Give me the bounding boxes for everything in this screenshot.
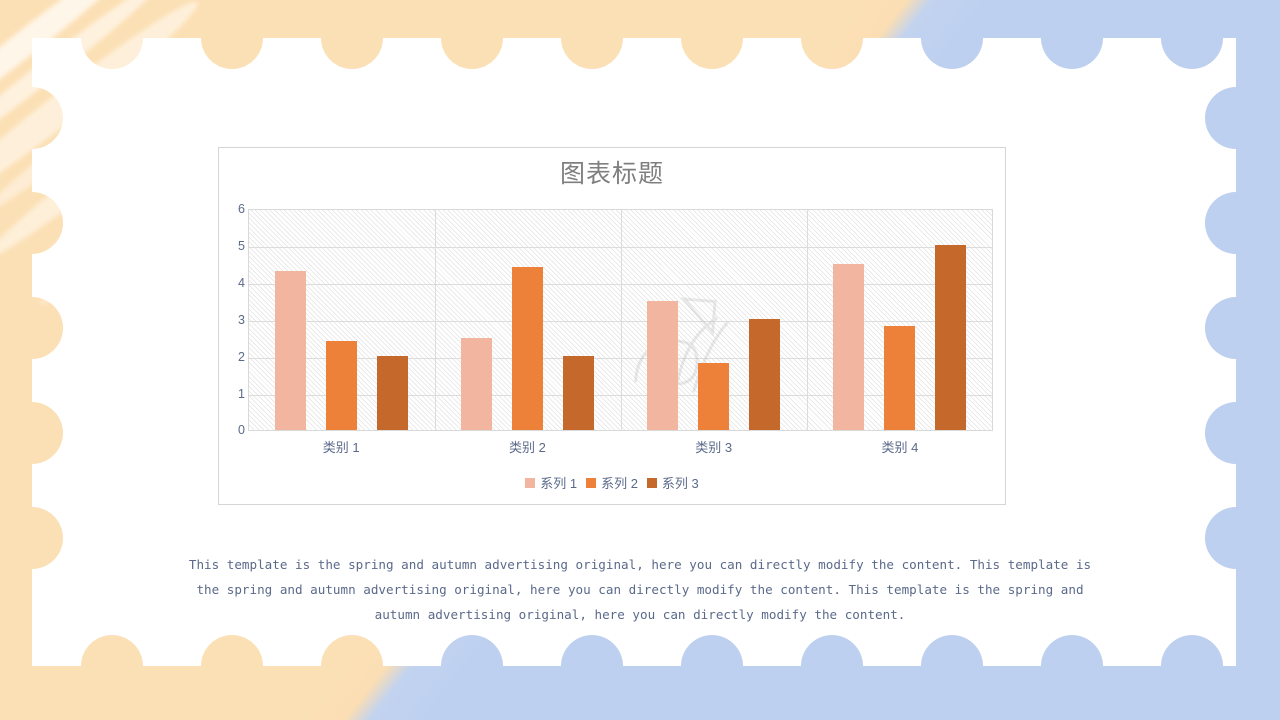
x-axis-label: 类别 1 [248,437,434,456]
bar-series-area [249,210,992,430]
y-axis-tick: 0 [238,423,245,437]
legend-item-series2[interactable]: 系列 2 [586,473,638,492]
legend-item-series3[interactable]: 系列 3 [647,473,699,492]
y-axis-tick: 2 [238,350,245,364]
bar-series1-cat4[interactable] [833,264,864,431]
x-axis: 类别 1 类别 2 类别 3 类别 4 [248,437,993,456]
legend-swatch-icon [647,478,657,488]
chart-legend: 系列 1 系列 2 系列 3 [219,473,1005,492]
chart-title: 图表标题 [219,162,1005,187]
bar-group [249,210,435,430]
bar-series2-cat3[interactable] [698,363,729,430]
bar-series1-cat1[interactable] [275,271,306,430]
y-axis-tick: 5 [238,239,245,253]
bar-group [435,210,621,430]
bar-series2-cat4[interactable] [884,326,915,430]
x-axis-label: 类别 4 [807,437,993,456]
y-axis-tick: 6 [238,202,245,216]
bar-series2-cat2[interactable] [512,267,543,430]
slide: 图表标题 6 5 4 3 2 1 0 [0,0,1280,720]
bar-series3-cat3[interactable] [749,319,780,430]
x-axis-label: 类别 2 [434,437,620,456]
y-axis: 6 5 4 3 2 1 0 [223,209,245,431]
bar-group [621,210,807,430]
bar-series1-cat3[interactable] [647,301,678,431]
bar-series3-cat2[interactable] [563,356,594,430]
y-axis-tick: 1 [238,387,245,401]
chart-plot-wrapper: 6 5 4 3 2 1 0 [219,209,1007,441]
y-axis-tick: 3 [238,313,245,327]
legend-label: 系列 2 [601,473,638,492]
legend-swatch-icon [586,478,596,488]
legend-item-series1[interactable]: 系列 1 [525,473,577,492]
x-axis-label: 类别 3 [621,437,807,456]
chart-container[interactable]: 图表标题 6 5 4 3 2 1 0 [218,147,1006,505]
body-paragraph: This template is the spring and autumn a… [180,552,1100,627]
bar-series3-cat4[interactable] [935,245,966,430]
bar-group [806,210,992,430]
bar-series2-cat1[interactable] [326,341,357,430]
legend-swatch-icon [525,478,535,488]
y-axis-tick: 4 [238,276,245,290]
legend-label: 系列 3 [662,473,699,492]
legend-label: 系列 1 [540,473,577,492]
plot-area [248,209,993,431]
bar-series1-cat2[interactable] [461,338,492,431]
bar-series3-cat1[interactable] [377,356,408,430]
